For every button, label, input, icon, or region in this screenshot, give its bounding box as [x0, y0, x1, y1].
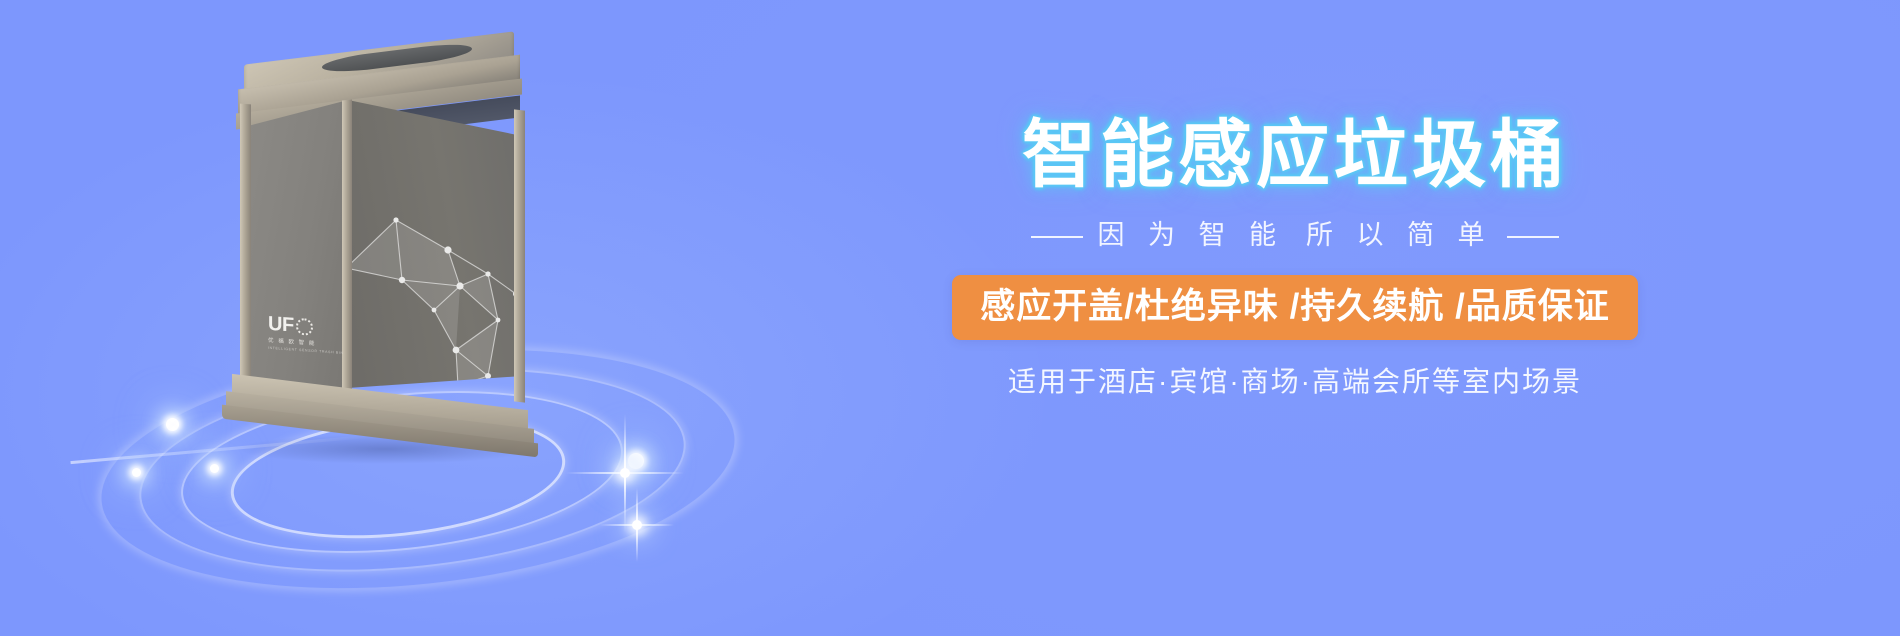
subline: 因 为 智 能所 以 简 单	[880, 222, 1710, 249]
subline-dash-left	[1031, 236, 1083, 238]
feature-pill: 感应开盖/杜绝异味 /持久续航 /品质保证	[952, 275, 1638, 340]
trash-bin: UF 优 福 欧 智 能 INTELLIGENT SENSOR TRASH BI…	[230, 48, 540, 448]
subline-text-a: 因 为 智 能	[1097, 220, 1284, 250]
light-point	[132, 468, 141, 477]
light-point	[210, 464, 219, 473]
bin-corner-post	[342, 99, 352, 408]
low-poly-network-graphic	[348, 190, 522, 400]
bin-face-left	[244, 100, 348, 400]
brand-logo: UF 优 福 欧 智 能 INTELLIGENT SENSOR TRASH BI…	[268, 314, 332, 354]
bin-face-right	[348, 100, 522, 400]
light-point	[628, 453, 644, 469]
ufo-ring-icon	[296, 317, 313, 335]
subline-dash-right	[1507, 236, 1559, 238]
sparkle-icon	[600, 488, 674, 562]
light-point	[166, 418, 179, 431]
sparkle-icon	[566, 414, 684, 532]
subline-text-b: 所 以 简 单	[1306, 220, 1493, 250]
product-image: UF 优 福 欧 智 能 INTELLIGENT SENSOR TRASH BI…	[70, 30, 770, 590]
bin-corner-post	[514, 109, 525, 402]
bin-corner-post	[240, 104, 251, 405]
scene-line: 适用于酒店·宾馆·商场·高端会所等室内场景	[880, 368, 1710, 396]
copy-block: 智能感应垃圾桶 因 为 智 能所 以 简 单 感应开盖/杜绝异味 /持久续航 /…	[880, 118, 1710, 396]
product-banner: UF 优 福 欧 智 能 INTELLIGENT SENSOR TRASH BI…	[0, 0, 1900, 636]
brand-wordmark: UF	[268, 314, 294, 336]
headline: 智能感应垃圾桶	[880, 118, 1710, 192]
